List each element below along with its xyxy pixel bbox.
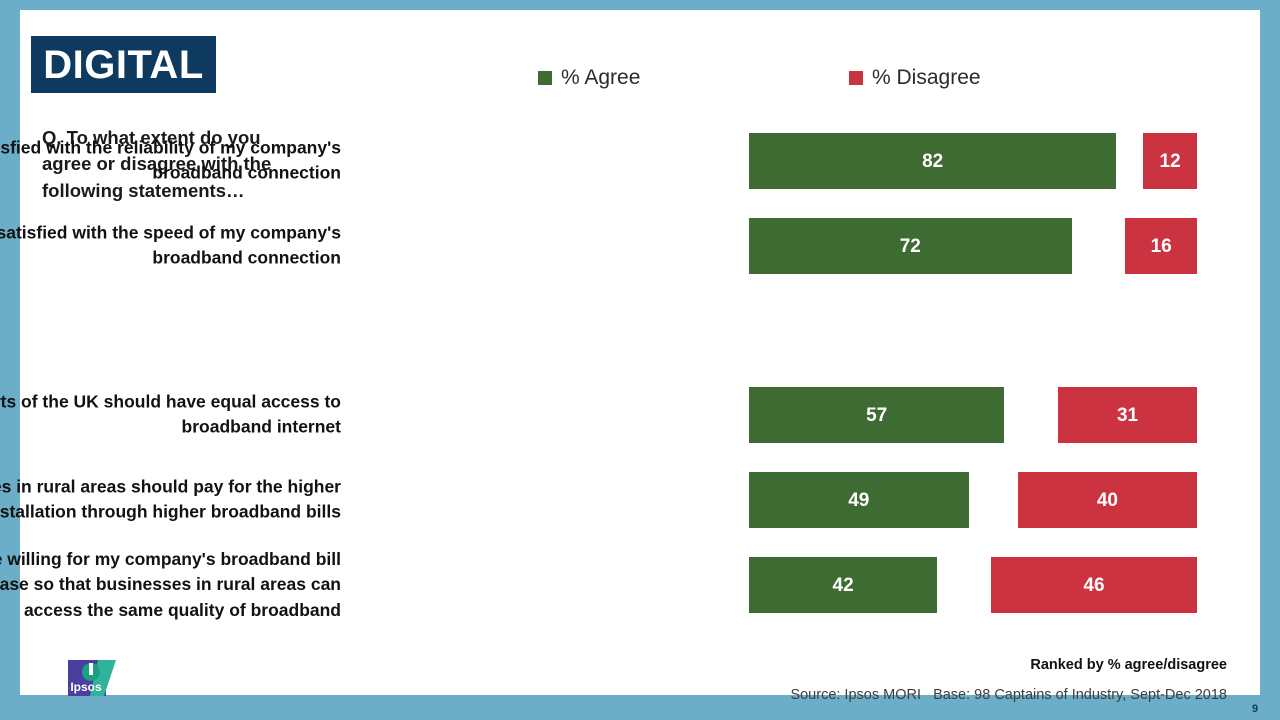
ranked-note: Ranked by % agree/disagree <box>1030 657 1227 673</box>
chart-row-label: I would be willing for my company's broa… <box>0 547 341 623</box>
chart-row: Businesses in rural areas should pay for… <box>20 472 1260 528</box>
bar-value-agree: 42 <box>833 576 854 595</box>
bar-value-agree: 82 <box>922 152 943 171</box>
chart-row-label: Businesses in rural areas should pay for… <box>0 475 341 526</box>
bar-value-disagree: 31 <box>1117 406 1138 425</box>
page-number: 9 <box>1252 703 1258 715</box>
ipsos-logo: Ipsos <box>68 660 116 696</box>
chart-row-label: All parts of the UK should have equal ac… <box>0 390 341 441</box>
slide-canvas: DIGITAL Q. To what extent do you agree o… <box>20 10 1260 695</box>
source-note: Source: Ipsos MORI Base: 98 Captains of … <box>790 687 1227 703</box>
diverging-bar-chart: I am satisfied with the reliability of m… <box>20 10 1260 695</box>
bar-value-disagree: 46 <box>1083 576 1104 595</box>
bar-disagree: 46 <box>991 557 1197 613</box>
bar-value-disagree: 12 <box>1160 152 1181 171</box>
bar-value-agree: 72 <box>900 237 921 256</box>
bar-value-disagree: 40 <box>1097 491 1118 510</box>
bar-disagree: 31 <box>1058 387 1197 443</box>
bar-disagree: 40 <box>1018 472 1197 528</box>
bar-disagree: 12 <box>1143 133 1197 189</box>
bar-value-agree: 57 <box>866 406 887 425</box>
bar-agree: 42 <box>749 557 937 613</box>
chart-row-label: I am satisfied with the reliability of m… <box>0 136 341 187</box>
chart-row: I am satisfied with the reliability of m… <box>20 133 1260 189</box>
chart-row: I am satisfied with the speed of my comp… <box>20 218 1260 274</box>
bar-agree: 57 <box>749 387 1004 443</box>
bar-agree: 72 <box>749 218 1072 274</box>
chart-row: All parts of the UK should have equal ac… <box>20 387 1260 443</box>
bar-value-agree: 49 <box>848 491 869 510</box>
svg-text:Ipsos: Ipsos <box>70 680 102 694</box>
bar-value-disagree: 16 <box>1151 237 1172 256</box>
bar-agree: 49 <box>749 472 969 528</box>
chart-row-label: I am satisfied with the speed of my comp… <box>0 221 341 272</box>
bar-disagree: 16 <box>1125 218 1197 274</box>
bar-agree: 82 <box>749 133 1116 189</box>
chart-row: I would be willing for my company's broa… <box>20 557 1260 613</box>
